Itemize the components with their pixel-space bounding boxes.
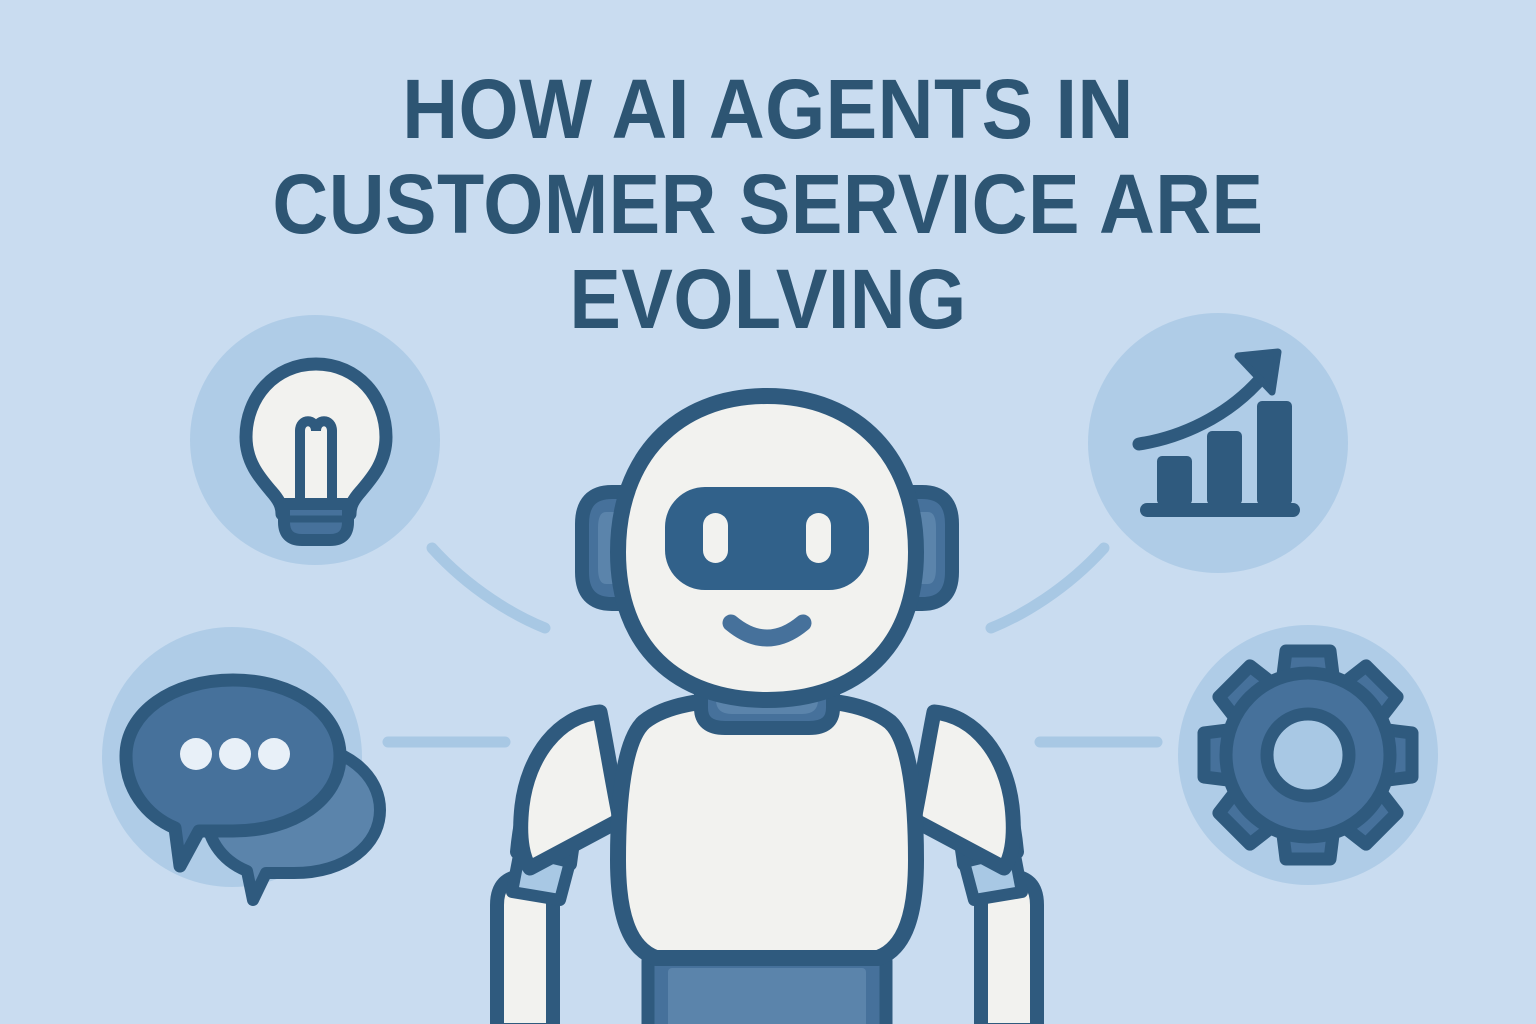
chart-baseline (1140, 503, 1300, 517)
bulb-glass (246, 364, 386, 514)
gear-icon (1204, 651, 1412, 859)
chat-dot-2 (219, 738, 251, 770)
bulb-filament-loop (300, 421, 332, 431)
chat-dot-3 (258, 738, 290, 770)
chart-bar-3 (1257, 401, 1292, 505)
chart-bar-1 (1157, 456, 1192, 505)
robot-pelvis-inner (668, 968, 866, 1024)
robot-torso (618, 698, 916, 958)
poster-artwork (0, 0, 1536, 1024)
robot-eye-left (703, 513, 728, 563)
chat-dot-1 (180, 738, 212, 770)
gear-hole (1267, 714, 1349, 796)
poster-canvas: HOW AI AGENTS IN CUSTOMER SERVICE ARE EV… (0, 0, 1536, 1024)
chart-bar-2 (1207, 431, 1242, 505)
robot-visor (665, 487, 869, 590)
robot-eye-right (806, 513, 831, 563)
